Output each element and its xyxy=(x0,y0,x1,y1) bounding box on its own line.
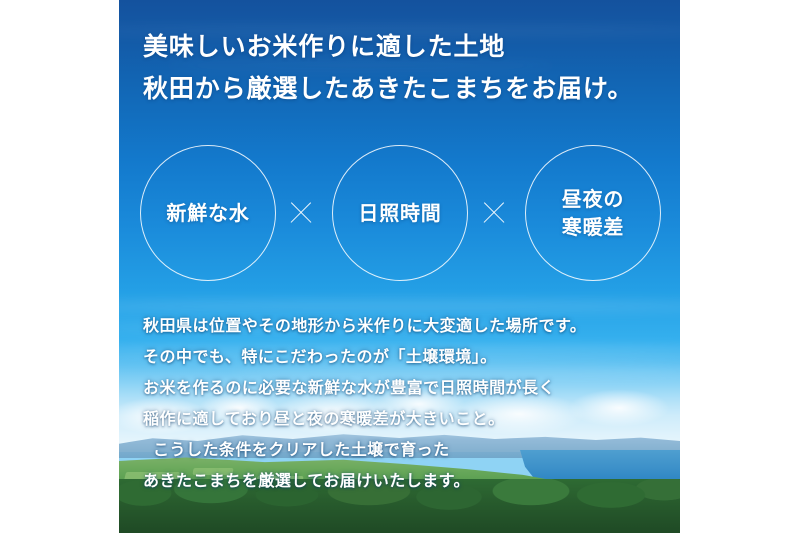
headline: 美味しいお米作りに適した土地 秋田から厳選したあきたこまちをお届け。 xyxy=(143,26,663,110)
feature-circle-label: 日照時間 xyxy=(358,199,441,227)
letterbox-bar-right xyxy=(680,0,800,533)
body-copy-line-4: 稲作に適しており昼と夜の寒暖差が大きいこと。 xyxy=(143,403,663,434)
feature-circle-fresh-water: 新鮮な水 xyxy=(140,145,276,281)
feature-circle-label: 新鮮な水 xyxy=(166,199,249,227)
banner-image-panel: 美味しいお米作りに適した土地 秋田から厳選したあきたこまちをお届け。 新鮮な水 … xyxy=(119,0,680,533)
multiply-icon xyxy=(287,199,315,227)
feature-circle-label: 昼夜の 寒暖差 xyxy=(562,185,624,241)
feature-circle-sunlight-hours: 日照時間 xyxy=(332,145,468,281)
headline-line-1: 美味しいお米作りに適した土地 xyxy=(143,26,663,68)
multiply-icon xyxy=(480,199,508,227)
feature-circle-row: 新鮮な水 日照時間 昼夜の 寒暖差 xyxy=(119,143,680,291)
body-copy-line-3: お米を作るのに必要な新鮮な水が豊富で日照時間が長く xyxy=(143,372,663,403)
body-copy-line-2: その中でも、特にこだわったのが「土壌環境」。 xyxy=(143,341,663,372)
banner-canvas: 美味しいお米作りに適した土地 秋田から厳選したあきたこまちをお届け。 新鮮な水 … xyxy=(0,0,800,533)
headline-line-2: 秋田から厳選したあきたこまちをお届け。 xyxy=(143,68,663,110)
body-copy-line-6: あきたこまちを厳選してお届けいたします。 xyxy=(143,465,663,496)
feature-circle-temperature-range: 昼夜の 寒暖差 xyxy=(525,145,661,281)
letterbox-bar-left xyxy=(0,0,119,533)
body-copy-line-1: 秋田県は位置やその地形から米作りに大変適した場所です。 xyxy=(143,310,663,341)
body-copy-line-5: こうした条件をクリアした土壌で育った xyxy=(143,434,663,465)
body-copy: 秋田県は位置やその地形から米作りに大変適した場所です。 その中でも、特にこだわっ… xyxy=(143,310,663,496)
